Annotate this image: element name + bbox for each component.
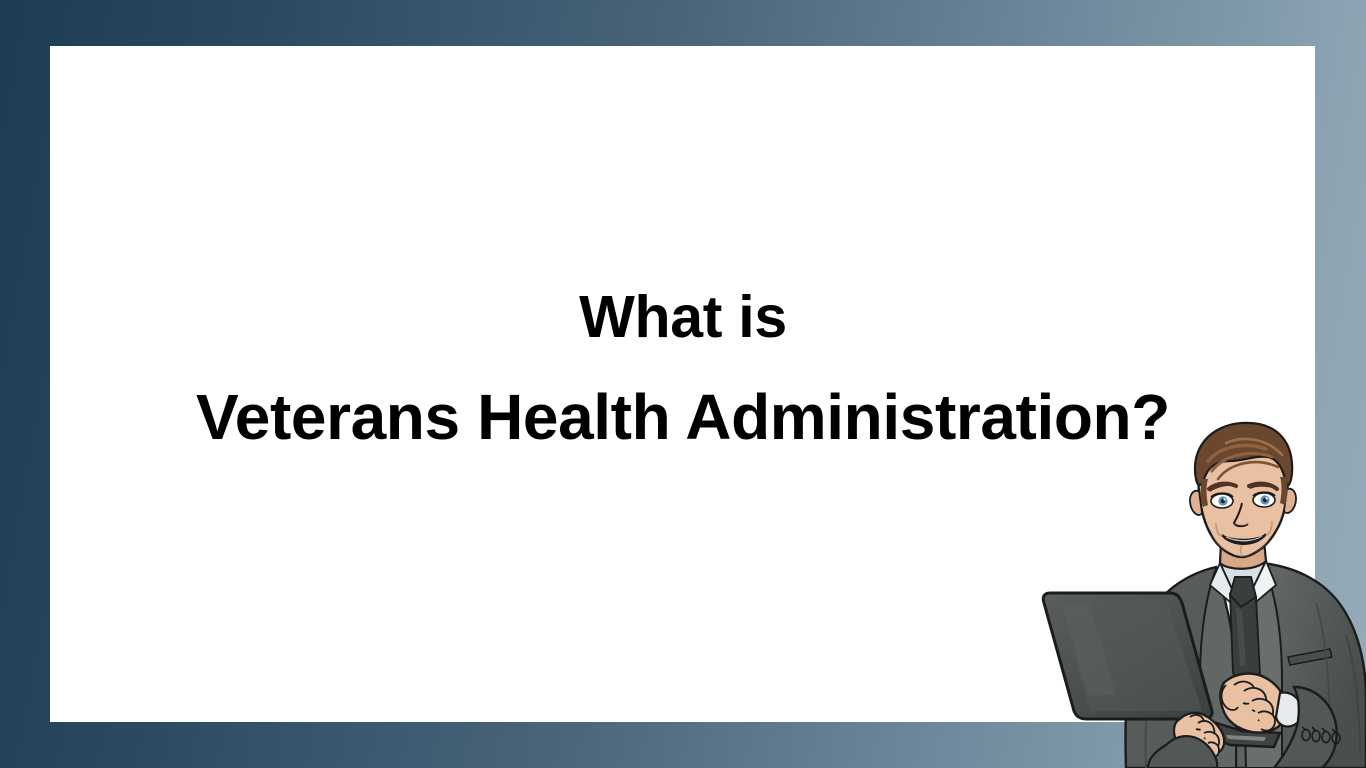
- white-content-panel: [50, 46, 1315, 722]
- presentation-slide: What is Veterans Health Administration?: [0, 0, 1366, 768]
